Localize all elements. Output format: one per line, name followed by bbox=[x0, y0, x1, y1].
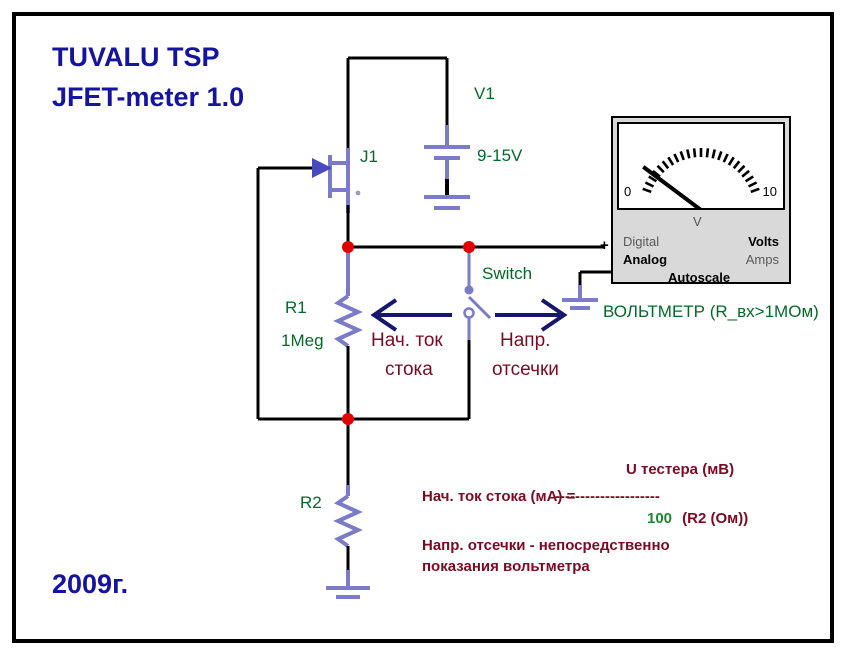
formula-note-line1: Напр. отсечки - непосредственно bbox=[422, 538, 670, 553]
meter-needle bbox=[643, 167, 703, 208]
annotation-drain-current-line2: стока bbox=[385, 360, 433, 379]
component-label-j1: J1 bbox=[360, 148, 378, 165]
meter-mode-digital[interactable]: Digital bbox=[623, 234, 659, 249]
meter-autoscale-toggle[interactable]: Autoscale bbox=[668, 270, 730, 285]
formula-fraction-bar: --------------------- bbox=[555, 489, 660, 504]
formula-numerator: U тестера (мВ) bbox=[626, 462, 734, 477]
year-label: 2009г. bbox=[52, 571, 128, 598]
component-value-v1: 9-15V bbox=[477, 147, 522, 164]
wire-meter-negative bbox=[580, 272, 611, 288]
wire-top-rail bbox=[348, 58, 447, 148]
formula-denominator-ref: (R2 (Ом)) bbox=[678, 511, 748, 526]
component-label-switch: Switch bbox=[482, 265, 532, 282]
annotation-pinchoff-line1: Напр. bbox=[500, 331, 550, 350]
ground-symbol-meter bbox=[562, 285, 598, 308]
arrow-right-pinchoff bbox=[495, 300, 564, 330]
meter-scale-min: 0 bbox=[624, 184, 631, 199]
voltmeter-widget[interactable]: 0 10 V Digital Analog Volts Amps Autosca… bbox=[611, 116, 791, 284]
meter-tick-marks bbox=[643, 148, 760, 192]
page-title-line1: TUVALU TSP bbox=[52, 44, 220, 71]
annotation-pinchoff-line2: отсечки bbox=[492, 360, 559, 379]
meter-unit-amps[interactable]: Amps bbox=[746, 252, 779, 267]
formula-denominator-value: 100 bbox=[647, 511, 672, 526]
component-label-r2: R2 bbox=[300, 494, 322, 511]
meter-dial: 0 10 bbox=[617, 122, 785, 210]
arrow-left-drain-current bbox=[374, 300, 452, 330]
meter-unit-volts[interactable]: Volts bbox=[748, 234, 779, 249]
wire-gate-loop bbox=[258, 168, 348, 419]
formula-note-line2: показания вольтметра bbox=[422, 559, 590, 574]
meter-scale-max: 10 bbox=[763, 184, 777, 199]
page-title-line2: JFET-meter 1.0 bbox=[52, 84, 244, 111]
resistor-r1-symbol bbox=[338, 247, 358, 419]
meter-unit-label: V bbox=[693, 214, 702, 229]
component-value-r1: 1Meg bbox=[281, 332, 324, 349]
jfet-j1-symbol bbox=[258, 148, 360, 247]
battery-v1-symbol bbox=[424, 125, 470, 208]
voltmeter-note: ВОЛЬТМЕТР (R_вх>1МОм) bbox=[603, 303, 819, 320]
ground-symbol-main bbox=[326, 570, 370, 597]
meter-dial-graphics bbox=[619, 124, 783, 208]
component-label-v1: V1 bbox=[474, 85, 495, 102]
annotation-drain-current-line1: Нач. ток bbox=[371, 331, 443, 350]
meter-mode-analog[interactable]: Analog bbox=[623, 252, 667, 267]
resistor-r2-symbol bbox=[338, 419, 358, 575]
meter-plus-terminal: + bbox=[600, 237, 609, 254]
component-label-r1: R1 bbox=[285, 299, 307, 316]
schematic-page: TUVALU TSP JFET-meter 1.0 2009г. J1 V1 9… bbox=[0, 0, 854, 663]
